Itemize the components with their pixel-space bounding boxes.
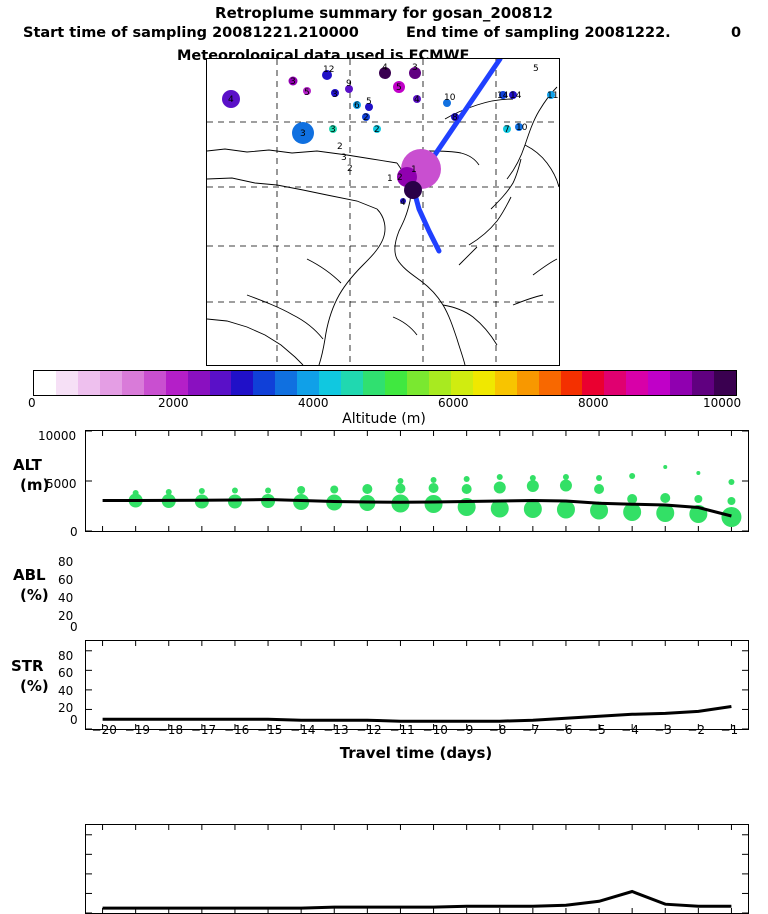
svg-text:4: 4	[400, 198, 406, 208]
colorbar-swatch	[473, 371, 495, 395]
svg-text:3: 3	[300, 129, 306, 139]
altitude-colorbar	[33, 370, 737, 396]
colorbar-swatch	[188, 371, 210, 395]
colorbar-axis-label: Altitude (m)	[0, 411, 768, 427]
colorbar-swatch	[626, 371, 648, 395]
colorbar-swatch	[670, 371, 692, 395]
colorbar-swatch	[561, 371, 583, 395]
colorbar-swatch	[517, 371, 539, 395]
map-marker-labels: 4 3 1 2 3 5 12 3 9 6 2 5 2 3 4 5 3 4 10 …	[228, 63, 558, 208]
x-axis-label: Travel time (days)	[85, 744, 747, 762]
start-time-label: Start time of sampling 20081221.210000	[23, 25, 359, 41]
svg-text:2: 2	[337, 142, 343, 152]
colorbar-swatch	[604, 371, 626, 395]
abl-plot-panel	[85, 640, 749, 730]
svg-text:5: 5	[396, 83, 402, 93]
svg-text:9: 9	[346, 79, 352, 89]
colorbar-swatch	[100, 371, 122, 395]
colorbar-swatch	[122, 371, 144, 395]
x-tick-label: −8	[489, 723, 507, 737]
svg-text:11: 11	[547, 91, 558, 101]
colorbar-swatch	[714, 371, 736, 395]
x-axis-ticklabels: −20−19−18−17−16−15−14−13−12−11−10−9−8−7−…	[0, 723, 768, 739]
svg-text:6: 6	[354, 101, 360, 111]
svg-text:1: 1	[411, 165, 417, 175]
abl-axis-label-line1: ABL	[13, 565, 46, 584]
x-tick-label: −3	[654, 723, 672, 737]
str-axis-label-line2: (%)	[20, 676, 49, 695]
x-tick-label: −7	[522, 723, 540, 737]
x-tick-label: −1	[720, 723, 738, 737]
svg-text:8: 8	[452, 113, 458, 123]
svg-text:3: 3	[290, 77, 296, 87]
colorbar-swatch	[582, 371, 604, 395]
x-tick-label: −2	[687, 723, 705, 737]
colorbar-swatch	[56, 371, 78, 395]
svg-text:5: 5	[533, 64, 539, 74]
svg-text:10: 10	[444, 93, 456, 103]
colorbar-swatch	[495, 371, 517, 395]
x-tick-label: −18	[158, 723, 183, 737]
x-tick-label: −14	[290, 723, 315, 737]
alt-axis-label-line2: (m)	[20, 475, 49, 494]
str-axis-label-line1: STR	[11, 656, 44, 675]
colorbar-swatch	[210, 371, 232, 395]
abl-axis-label-line2: (%)	[20, 585, 49, 604]
colorbar-swatch	[385, 371, 407, 395]
colorbar-ticklabels: 0 2000 4000 6000 8000 10000	[0, 396, 768, 412]
str-ytick-60: 60	[58, 662, 73, 681]
svg-text:2: 2	[374, 125, 380, 135]
colorbar-swatch	[78, 371, 100, 395]
x-tick-label: −11	[389, 723, 414, 737]
abl-ytick-0: 0	[70, 616, 78, 635]
x-tick-label: −6	[555, 723, 573, 737]
x-tick-label: −16	[224, 723, 249, 737]
colorbar-swatch	[363, 371, 385, 395]
svg-text:3: 3	[412, 63, 418, 73]
colorbar-swatch	[253, 371, 275, 395]
colorbar-swatch	[341, 371, 363, 395]
svg-text:5: 5	[366, 97, 372, 107]
colorbar-swatch	[144, 371, 166, 395]
colorbar-swatch	[319, 371, 341, 395]
svg-text:7: 7	[504, 125, 510, 135]
svg-text:14: 14	[510, 91, 522, 101]
colorbar-swatch	[539, 371, 561, 395]
retroplume-map: 4 3 1 2 3 5 12 3 9 6 2 5 2 3 4 5 3 4 10 …	[206, 58, 560, 366]
svg-text:1: 1	[387, 174, 393, 184]
colorbar-swatch	[166, 371, 188, 395]
svg-text:4: 4	[382, 63, 388, 73]
svg-text:3: 3	[332, 90, 338, 100]
x-tick-label: −13	[323, 723, 348, 737]
colorbar-swatch	[451, 371, 473, 395]
svg-text:2: 2	[397, 173, 403, 183]
alt-ytick-5000: 5000	[46, 473, 77, 492]
abl-ytick-40: 40	[58, 587, 73, 606]
svg-text:4: 4	[414, 95, 420, 105]
colorbar-swatch	[692, 371, 714, 395]
alt-plot-panel	[85, 430, 749, 532]
alt-ytick-0: 0	[70, 521, 78, 540]
x-tick-label: −5	[588, 723, 606, 737]
svg-text:3: 3	[330, 125, 336, 135]
x-tick-label: −12	[356, 723, 381, 737]
x-tick-label: −4	[621, 723, 639, 737]
svg-text:2: 2	[363, 113, 369, 123]
end-time-value: 0	[731, 25, 741, 41]
str-plot-panel	[85, 824, 749, 914]
svg-text:12: 12	[323, 65, 334, 75]
svg-text:3: 3	[341, 153, 347, 163]
svg-text:5: 5	[304, 88, 310, 98]
colorbar-swatch	[429, 371, 451, 395]
x-tick-label: −9	[456, 723, 474, 737]
end-time-label: End time of sampling 20081222.	[406, 25, 671, 41]
colorbar-swatch	[297, 371, 319, 395]
x-tick-label: −20	[92, 723, 117, 737]
x-tick-label: −15	[257, 723, 282, 737]
page-title: Retroplume summary for gosan_200812	[0, 4, 768, 22]
colorbar-swatch	[648, 371, 670, 395]
abl-ytick-80: 80	[58, 551, 73, 570]
x-tick-label: −10	[423, 723, 448, 737]
colorbar-swatch	[34, 371, 56, 395]
alt-axis-label-line1: ALT	[13, 455, 42, 474]
x-tick-label: −19	[125, 723, 150, 737]
svg-text:10: 10	[516, 123, 528, 133]
colorbar-swatch	[275, 371, 297, 395]
colorbar-swatch	[407, 371, 429, 395]
alt-ytick-10000: 10000	[38, 425, 76, 444]
svg-text:14: 14	[497, 91, 509, 101]
x-tick-label: −17	[191, 723, 216, 737]
svg-text:2: 2	[347, 164, 353, 174]
abl-ytick-60: 60	[58, 569, 73, 588]
colorbar-swatch	[231, 371, 253, 395]
svg-text:4: 4	[228, 95, 234, 105]
